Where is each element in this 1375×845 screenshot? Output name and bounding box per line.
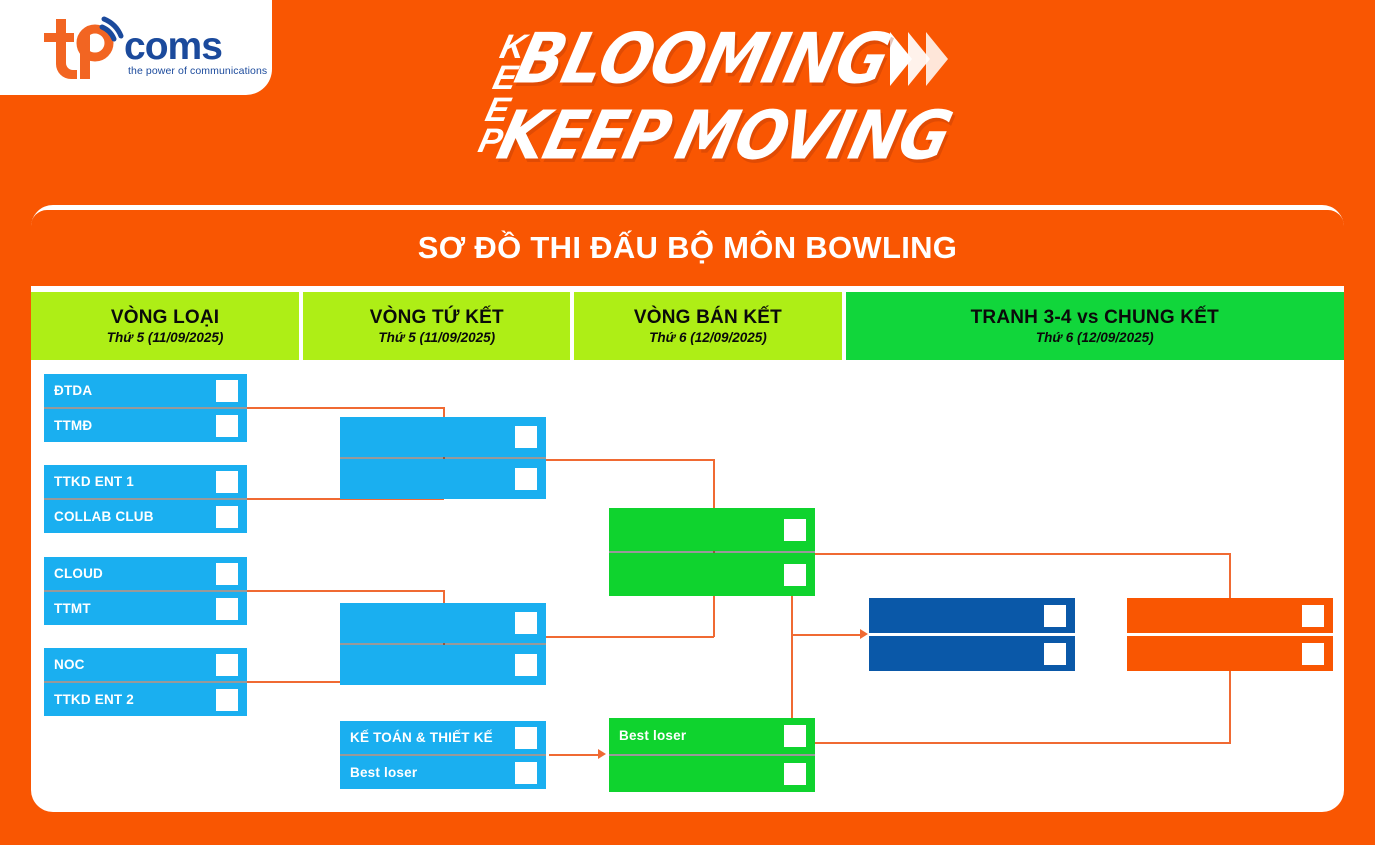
connector-line (247, 407, 444, 409)
match-slot-bottom[interactable] (340, 459, 546, 499)
match-r2-2[interactable] (340, 603, 546, 685)
team-name: CLOUD (54, 567, 103, 581)
score-box[interactable] (1302, 643, 1324, 665)
match-r3-1[interactable] (609, 508, 815, 596)
score-box[interactable] (216, 654, 238, 676)
match-final[interactable] (1127, 598, 1333, 671)
match-slot-top[interactable] (340, 603, 546, 643)
match-slot-bottom[interactable] (1127, 636, 1333, 671)
match-slot-top[interactable] (1127, 598, 1333, 633)
match-slot-top[interactable]: CLOUD (44, 557, 247, 590)
match-slot-top[interactable] (340, 417, 546, 457)
score-box[interactable] (784, 763, 806, 785)
score-box[interactable] (216, 380, 238, 402)
score-box[interactable] (1302, 605, 1324, 627)
score-box[interactable] (1044, 605, 1066, 627)
match-r1-3[interactable]: CLOUD TTMT (44, 557, 247, 625)
match-slot-top[interactable]: KẾ TOÁN & THIẾT KẾ (340, 721, 546, 754)
score-box[interactable] (216, 598, 238, 620)
connector-line (791, 575, 793, 723)
score-box[interactable] (216, 689, 238, 711)
team-name: NOC (54, 658, 85, 672)
score-box[interactable] (784, 725, 806, 747)
match-slot-top[interactable]: NOC (44, 648, 247, 681)
team-name: Best loser (619, 729, 686, 743)
team-name: TTMT (54, 602, 91, 616)
match-slot-top[interactable]: Best loser (609, 718, 815, 754)
score-box[interactable] (216, 563, 238, 585)
match-r2-3[interactable]: KẾ TOÁN & THIẾT KẾ Best loser (340, 721, 546, 789)
match-slot-bottom[interactable] (609, 756, 815, 792)
match-slot-top[interactable] (869, 598, 1075, 633)
team-name: ĐTDA (54, 384, 92, 398)
score-box[interactable] (515, 762, 537, 784)
score-box[interactable] (515, 727, 537, 749)
match-r1-1[interactable]: ĐTDA TTMĐ (44, 374, 247, 442)
score-box[interactable] (216, 471, 238, 493)
match-slot-bottom[interactable] (609, 553, 815, 596)
score-box[interactable] (515, 426, 537, 448)
score-box[interactable] (515, 612, 537, 634)
match-slot-bottom[interactable]: TTKD ENT 2 (44, 683, 247, 716)
match-r1-2[interactable]: TTKD ENT 1 COLLAB CLUB (44, 465, 247, 533)
match-third-place[interactable] (869, 598, 1075, 671)
match-r2-1[interactable] (340, 417, 546, 499)
score-box[interactable] (784, 564, 806, 586)
connector-line (1229, 553, 1231, 604)
team-name: TTKD ENT 2 (54, 693, 134, 707)
connector-arrow-icon (598, 749, 606, 759)
match-r3-2[interactable]: Best loser (609, 718, 815, 792)
match-slot-top[interactable]: ĐTDA (44, 374, 247, 407)
connector-line (791, 634, 861, 636)
match-slot-bottom[interactable]: COLLAB CLUB (44, 500, 247, 533)
score-box[interactable] (784, 519, 806, 541)
score-box[interactable] (216, 415, 238, 437)
bracket-tree: ĐTDA TTMĐ TTKD ENT 1 COLLAB CLUB CLOUD (0, 0, 1375, 845)
bracket-poster: coms the power of communications KEEP BL… (0, 0, 1375, 845)
connector-line (1229, 671, 1231, 743)
team-name: KẾ TOÁN & THIẾT KẾ (350, 731, 493, 745)
team-name: COLLAB CLUB (54, 510, 154, 524)
connector-line (549, 754, 599, 756)
connector-line (546, 636, 714, 638)
score-box[interactable] (515, 654, 537, 676)
match-slot-bottom[interactable]: TTMĐ (44, 409, 247, 442)
score-box[interactable] (216, 506, 238, 528)
match-slot-bottom[interactable]: Best loser (340, 756, 546, 789)
team-name: Best loser (350, 766, 417, 780)
match-r1-4[interactable]: NOC TTKD ENT 2 (44, 648, 247, 716)
score-box[interactable] (515, 468, 537, 490)
match-slot-bottom[interactable] (340, 645, 546, 685)
match-slot-bottom[interactable] (869, 636, 1075, 671)
team-name: TTMĐ (54, 419, 92, 433)
match-slot-top[interactable]: TTKD ENT 1 (44, 465, 247, 498)
match-slot-bottom[interactable]: TTMT (44, 592, 247, 625)
connector-line (247, 590, 444, 592)
connector-arrow-icon (860, 629, 868, 639)
team-name: TTKD ENT 1 (54, 475, 134, 489)
score-box[interactable] (1044, 643, 1066, 665)
connector-line (546, 459, 714, 461)
connector-line (815, 553, 1231, 555)
connector-line (815, 742, 1231, 744)
match-slot-top[interactable] (609, 508, 815, 551)
